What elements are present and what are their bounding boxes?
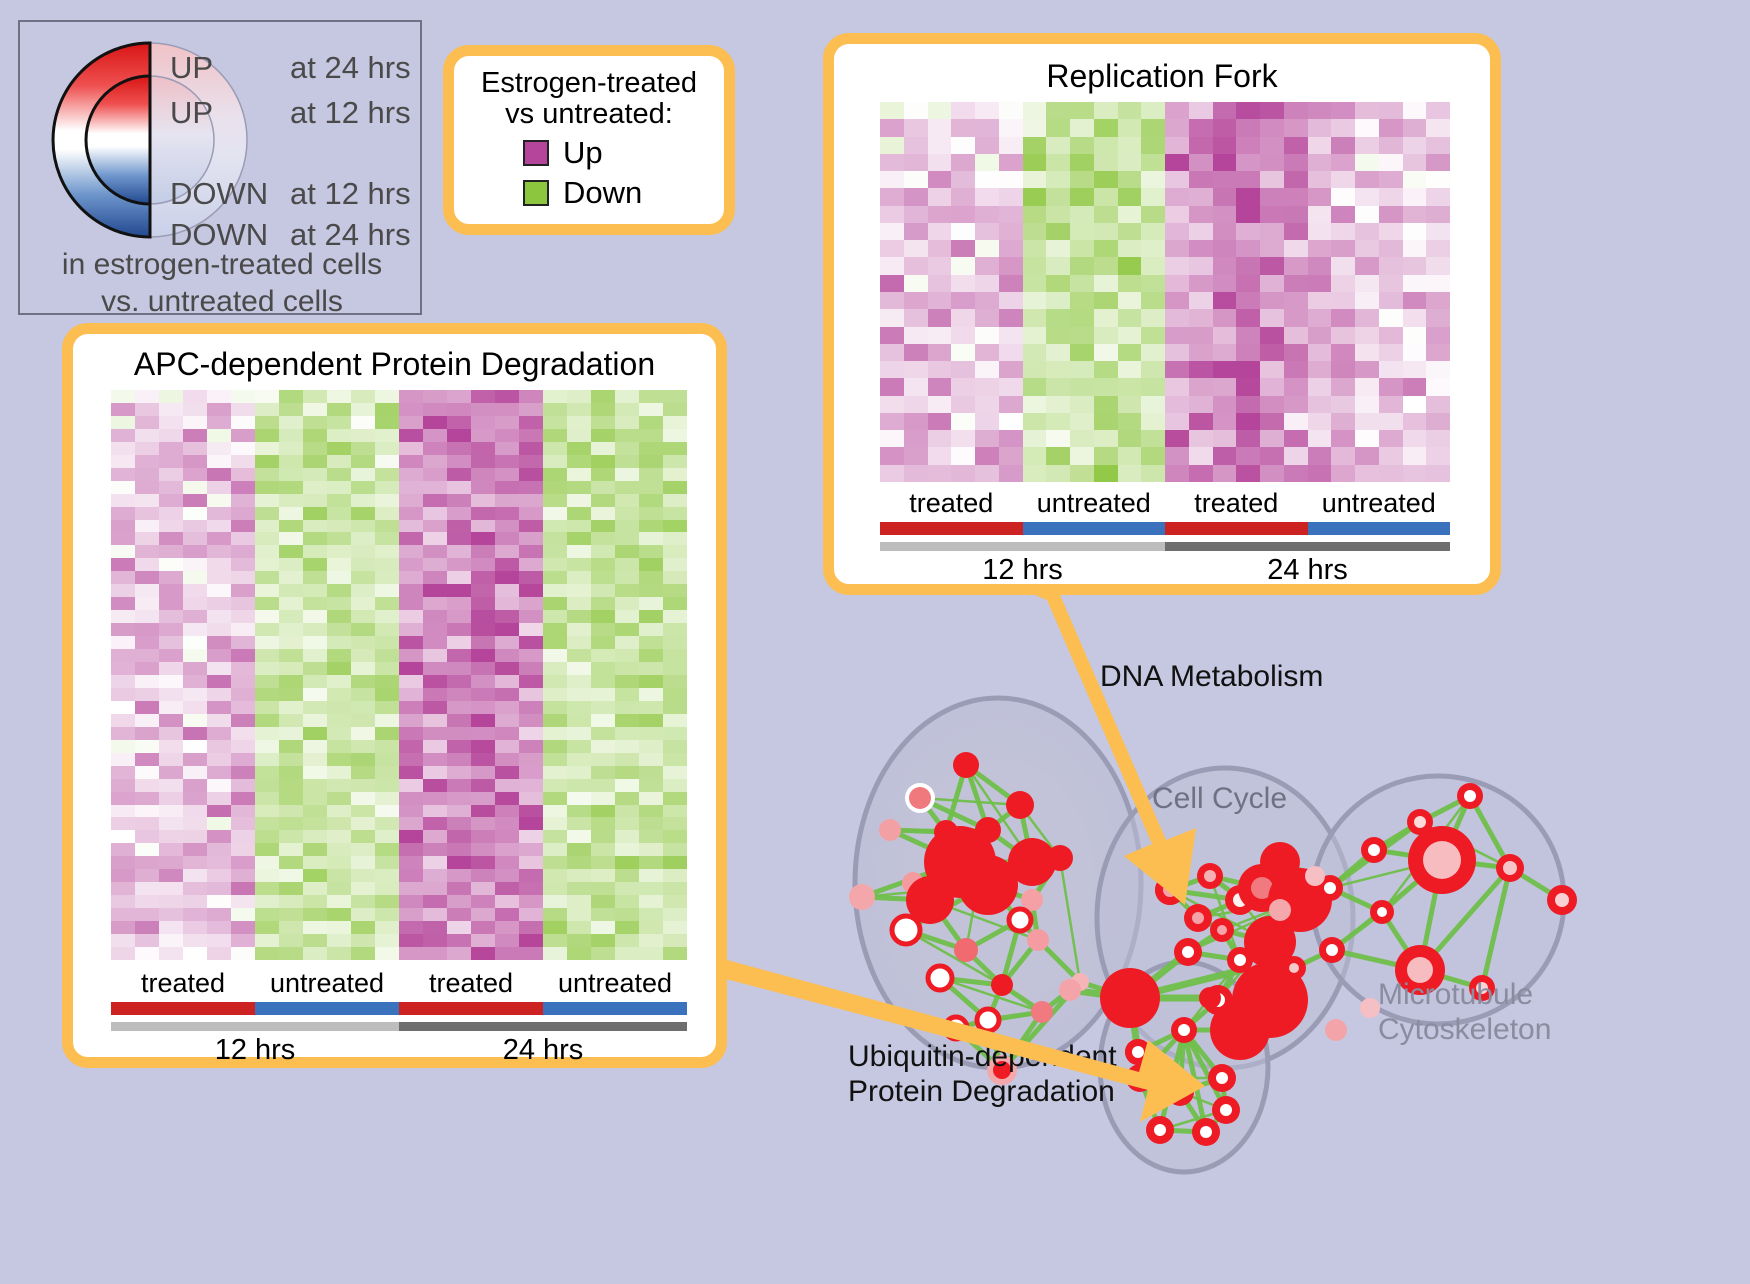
legend-panel: Estrogen-treated vs untreated: Up Down xyxy=(443,45,735,235)
replication-fork-panel: Replication Fork treateduntreatedtreated… xyxy=(823,33,1501,595)
figure-canvas: UP at 24 hrs UP at 12 hrs DOWN at 12 hrs… xyxy=(0,0,1750,1279)
sample-label: treated xyxy=(880,488,1023,519)
sample-label: untreated xyxy=(255,968,399,999)
sample-color-segment xyxy=(1308,522,1451,535)
time-label: 24 hrs xyxy=(399,1034,687,1067)
sample-label-row: treateduntreatedtreateduntreated xyxy=(111,968,687,999)
apc-degradation-sample-axis: treateduntreatedtreateduntreated12 hrs24… xyxy=(111,968,687,1067)
time-label: 24 hrs xyxy=(1165,554,1450,587)
legend-entry-up: Up xyxy=(454,135,724,171)
sample-color-segment xyxy=(399,1002,543,1015)
network-svg xyxy=(770,600,1750,1279)
apc-degradation-panel: APC-dependent Protein Degradation treate… xyxy=(62,323,727,1068)
panel-title: APC-dependent Protein Degradation xyxy=(73,346,716,383)
cluster-label-microtubule-cytoskeleton: Microtubule Cytoskeleton xyxy=(1378,978,1551,1048)
sample-color-segment xyxy=(543,1002,687,1015)
sample-label: treated xyxy=(1165,488,1308,519)
sample-color-segment xyxy=(880,522,1023,535)
key-row: UP at 12 hrs xyxy=(170,97,420,128)
apc-degradation-heatmap xyxy=(111,390,687,960)
cluster-label-cell-cycle: Cell Cycle xyxy=(1152,782,1287,817)
key-direction: DOWN xyxy=(170,178,290,209)
colorbar-key-footnote: in estrogen-treated cells vs. untreated … xyxy=(20,247,424,320)
time-color-bar xyxy=(880,542,1450,551)
sample-label: treated xyxy=(399,968,543,999)
key-row: UP at 24 hrs xyxy=(170,52,420,83)
colorbar-key-labels: UP at 24 hrs UP at 12 hrs DOWN at 12 hrs… xyxy=(170,52,420,250)
sample-color-segment xyxy=(1165,522,1308,535)
legend-label-down: Down xyxy=(563,175,655,211)
legend-entry-down: Down xyxy=(454,175,724,211)
time-label-row: 12 hrs24 hrs xyxy=(880,554,1450,587)
key-row: DOWN at 12 hrs xyxy=(170,178,420,209)
sample-color-segment xyxy=(1023,522,1166,535)
cluster-label-dna-metabolism: DNA Metabolism xyxy=(1100,660,1323,695)
key-time: at 12 hrs xyxy=(290,178,411,209)
time-label: 12 hrs xyxy=(880,554,1165,587)
legend-label-up: Up xyxy=(563,135,655,171)
sample-label: treated xyxy=(111,968,255,999)
sample-label: untreated xyxy=(1308,488,1451,519)
panel-title: Replication Fork xyxy=(834,58,1490,95)
key-direction: UP xyxy=(170,97,290,128)
legend-swatch-down-icon xyxy=(523,180,549,206)
sample-color-segment xyxy=(255,1002,399,1015)
legend-title-line1: Estrogen-treated xyxy=(454,68,724,99)
sample-color-segment xyxy=(111,1002,255,1015)
time-color-segment xyxy=(880,542,1165,551)
time-color-segment xyxy=(1165,542,1450,551)
key-direction: UP xyxy=(170,52,290,83)
time-color-segment xyxy=(111,1022,399,1031)
replication-fork-sample-axis: treateduntreatedtreateduntreated12 hrs24… xyxy=(880,488,1450,587)
replication-fork-heatmap xyxy=(880,102,1450,482)
legend-swatch-up-icon xyxy=(523,140,549,166)
key-row: DOWN at 24 hrs xyxy=(170,219,420,250)
time-color-segment xyxy=(399,1022,687,1031)
key-footnote-line2: vs. untreated cells xyxy=(20,284,424,321)
key-time: at 24 hrs xyxy=(290,52,411,83)
sample-label-row: treateduntreatedtreateduntreated xyxy=(880,488,1450,519)
legend-title: Estrogen-treated vs untreated: xyxy=(454,68,724,131)
key-time: at 12 hrs xyxy=(290,97,411,128)
sample-label: untreated xyxy=(1023,488,1166,519)
time-label: 12 hrs xyxy=(111,1034,399,1067)
key-direction: DOWN xyxy=(170,219,290,250)
cluster-label-ubiquitin-degradation: Ubiquitin-dependent Protein Degradation xyxy=(848,1040,1117,1110)
key-footnote-line1: in estrogen-treated cells xyxy=(20,247,424,284)
time-label-row: 12 hrs24 hrs xyxy=(111,1034,687,1067)
pathway-network-diagram: DNA Metabolism Cell Cycle Microtubule Cy… xyxy=(770,600,1750,1279)
colorbar-key-box: UP at 24 hrs UP at 12 hrs DOWN at 12 hrs… xyxy=(18,20,422,315)
sample-label: untreated xyxy=(543,968,687,999)
legend-title-line2: vs untreated: xyxy=(454,99,724,130)
sample-color-bar xyxy=(111,1002,687,1015)
key-time: at 24 hrs xyxy=(290,219,411,250)
sample-color-bar xyxy=(880,522,1450,535)
time-color-bar xyxy=(111,1022,687,1031)
